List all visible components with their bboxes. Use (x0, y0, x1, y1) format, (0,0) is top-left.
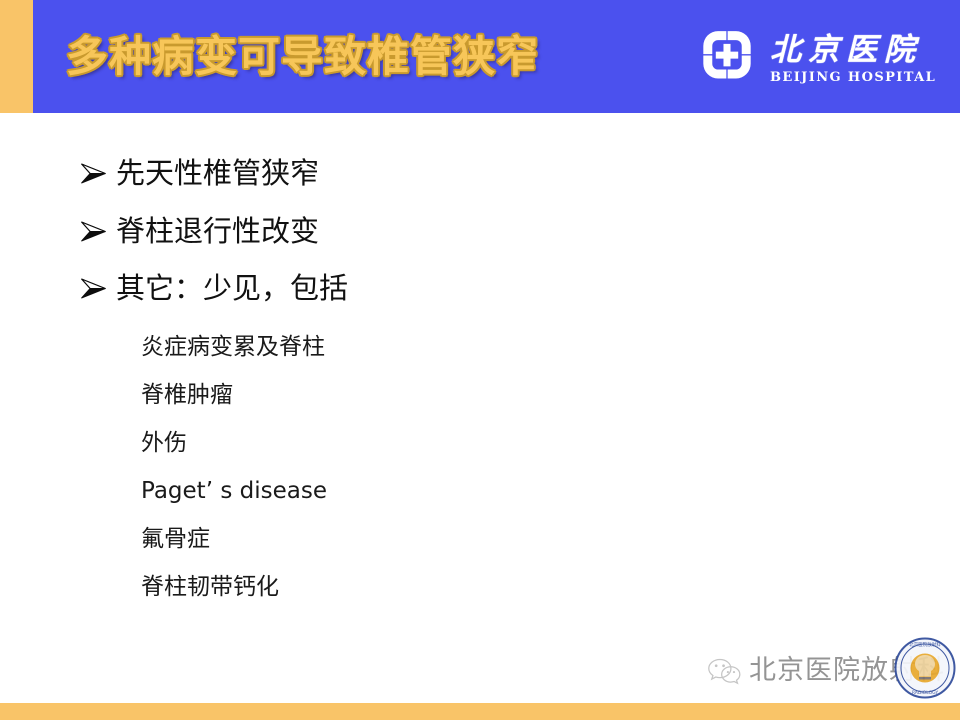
radiology-department-seal-icon: 北京医院放射科 RADIOLOGY (894, 637, 956, 699)
bullet-item: 先天性椎管狭窄 (78, 154, 319, 192)
arrow-bullet-icon (78, 275, 110, 301)
bullet-label: 先天性椎管狭窄 (116, 154, 319, 192)
sub-item: 脊柱韧带钙化 (141, 571, 279, 603)
svg-text:RADIOLOGY: RADIOLOGY (912, 690, 939, 696)
footer-accent-bar (0, 703, 960, 720)
svg-text:北京医院放射科: 北京医院放射科 (909, 641, 941, 648)
sub-item: Paget’ s disease (141, 475, 327, 507)
hospital-name-en: BEIJING HOSPITAL (770, 70, 936, 86)
hospital-emblem-icon (694, 26, 760, 90)
hospital-name-cn: 北京医院 (770, 31, 936, 69)
bullet-item: 其它：少见，包括 (78, 269, 348, 307)
slide-title: 多种病变可导致椎管狭窄 (66, 28, 539, 86)
bullet-item: 脊柱退行性改变 (78, 212, 319, 250)
sub-item: 外伤 (141, 427, 187, 459)
slide-canvas: 多种病变可导致椎管狭窄 (0, 0, 960, 720)
hospital-wordmark: 北京医院 BEIJING HOSPITAL (770, 31, 936, 86)
header-left-accent-bar (0, 0, 33, 113)
arrow-bullet-icon (78, 218, 110, 244)
sub-item: 炎症病变累及脊柱 (141, 331, 325, 363)
wechat-icon (706, 656, 742, 686)
arrow-bullet-icon (78, 160, 110, 186)
sub-item: 氟骨症 (141, 523, 210, 555)
sub-item: 脊椎肿瘤 (141, 379, 233, 411)
bullet-label: 其它：少见，包括 (116, 269, 348, 307)
slide-header: 多种病变可导致椎管狭窄 (0, 0, 960, 114)
bullet-label: 脊柱退行性改变 (116, 212, 319, 250)
hospital-logo: 北京医院 BEIJING HOSPITAL (694, 24, 946, 92)
slide-body: 先天性椎管狭窄 脊柱退行性改变 其它：少见，包括 炎症病变累及脊柱 脊椎肿瘤 外 (0, 114, 960, 634)
